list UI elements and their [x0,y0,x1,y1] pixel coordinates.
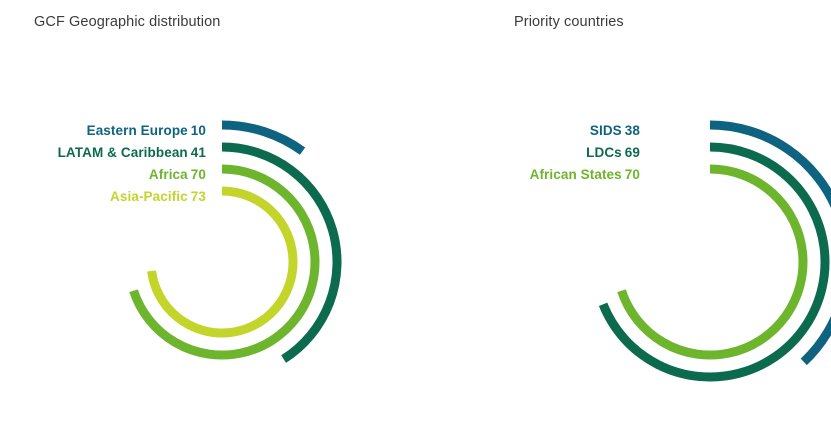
legend-label: LDCs [586,145,622,160]
legend-value: 69 [625,145,640,160]
legend-label: SIDS [590,123,622,138]
legend-label: Asia-Pacific [110,189,188,204]
legend-value: 38 [625,123,640,138]
radial-bar-infographic: GCF Geographic distribution Eastern Euro… [0,0,831,425]
legend-item: African States70 [400,164,640,186]
legend-label: Eastern Europe [87,123,188,138]
panel-title-gcf-geographic-distribution: GCF Geographic distribution [34,14,220,30]
legend-item: Asia-Pacific73 [0,186,206,208]
panel-gcf-geographic-distribution: GCF Geographic distribution Eastern Euro… [0,0,416,425]
legend-value: 73 [191,189,206,204]
legend-label: African States [530,167,622,182]
legend-value: 10 [191,123,206,138]
legend-label: LATAM & Caribbean [58,145,188,160]
legend-label: Africa [149,167,188,182]
legend-value: 41 [191,145,206,160]
panel-priority-countries: Priority countries [416,0,831,425]
panel-title-priority-countries: Priority countries [514,14,624,30]
legend-gcf-geographic-distribution: Eastern Europe10 LATAM & Caribbean41 Afr… [0,120,206,208]
legend-item: SIDS38 [400,120,640,142]
legend-value: 70 [191,167,206,182]
legend-item: Eastern Europe10 [0,120,206,142]
legend-item: Africa70 [0,164,206,186]
legend-item: LATAM & Caribbean41 [0,142,206,164]
legend-priority-countries: SIDS38 LDCs69 African States70 [400,120,640,186]
legend-value: 70 [625,167,640,182]
legend-item: LDCs69 [400,142,640,164]
